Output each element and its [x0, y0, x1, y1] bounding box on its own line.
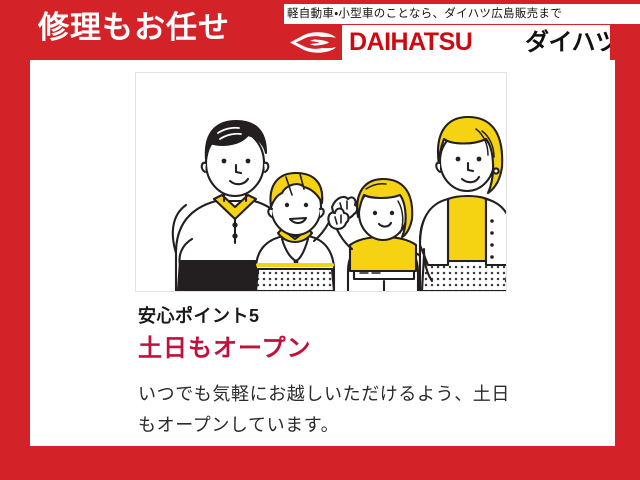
daihatsu-wordmark-en: DAIHATSU — [349, 28, 472, 57]
point-label: 安心ポイント5 — [138, 303, 558, 329]
header-band: 修理もお任せ 軽自動車・小型車のことなら、ダイハツ広島販売まで DAIHATSU… — [0, 0, 640, 60]
page-title: 修理もお任せ — [38, 9, 230, 47]
logo-wordmark-panel: DAIHATSU ダイハツ広島販売 — [342, 25, 610, 60]
content-card: 安心ポイント5 土日もオープン いつでも気軽にお越しいただけるよう、土日もオープ… — [30, 60, 615, 446]
tagline-box: 軽自動車・小型車のことなら、ダイハツ広島販売まで — [284, 4, 640, 24]
brand-block: 軽自動車・小型車のことなら、ダイハツ広島販売まで DAIHATSU ダイハツ広島… — [284, 4, 640, 60]
logo-row[interactable]: DAIHATSU ダイハツ広島販売 — [284, 25, 640, 60]
illustration-frame — [135, 72, 507, 292]
daihatsu-wordmark-jp: ダイハツ広島販売 — [525, 29, 610, 57]
caption-block: 安心ポイント5 土日もオープン いつでも気軽にお越しいただけるよう、土日もオープ… — [138, 303, 558, 441]
tagline-text: 軽自動車・小型車のことなら、ダイハツ広島販売まで — [287, 6, 562, 22]
emblem-backdrop — [284, 25, 342, 60]
slide-root: 修理もお任せ 軽自動車・小型車のことなら、ダイハツ広島販売まで DAIHATSU… — [0, 0, 640, 480]
body-text: いつでも気軽にお越しいただけるよう、土日もオープンしています。 — [138, 379, 518, 441]
daihatsu-d-emblem-icon — [289, 32, 337, 53]
family-illustration-icon — [136, 73, 506, 291]
point-title: 土日もオープン — [138, 332, 558, 366]
